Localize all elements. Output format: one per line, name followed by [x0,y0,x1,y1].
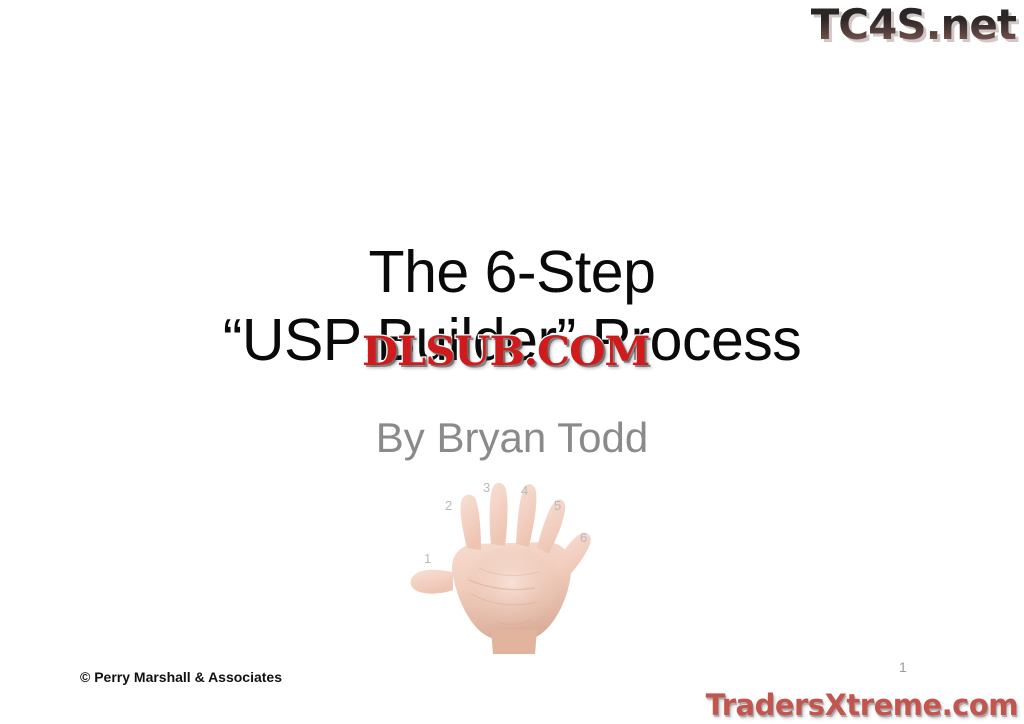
finger-label-5: 5 [554,498,561,513]
finger-label-4: 4 [521,483,528,498]
dlsub-watermark: DLSUB.COM [362,330,649,374]
copyright-notice: © Perry Marshall & Associates [80,668,282,686]
slide-canvas: TC4S.net TC4S.net The 6-Step “USP Builde… [0,0,1024,724]
finger-label-2: 2 [445,498,452,513]
finger-label-6: 6 [580,530,587,545]
tradersxtreme-logo: TradersXtreme.com [706,688,1018,722]
finger-label-3: 3 [483,480,490,495]
tc4s-net-logo: TC4S.net [811,2,1016,48]
six-finger-hand-illustration: 1 2 3 4 5 6 [405,472,615,654]
finger-label-1: 1 [424,551,431,566]
hand-icon [405,472,615,654]
page-number: 1 [899,659,907,675]
slide-subtitle: By Bryan Todd [0,412,1024,464]
dlsub-watermark-text: DLSUB.COM [362,328,649,375]
title-line-1: The 6-Step [0,238,1024,306]
